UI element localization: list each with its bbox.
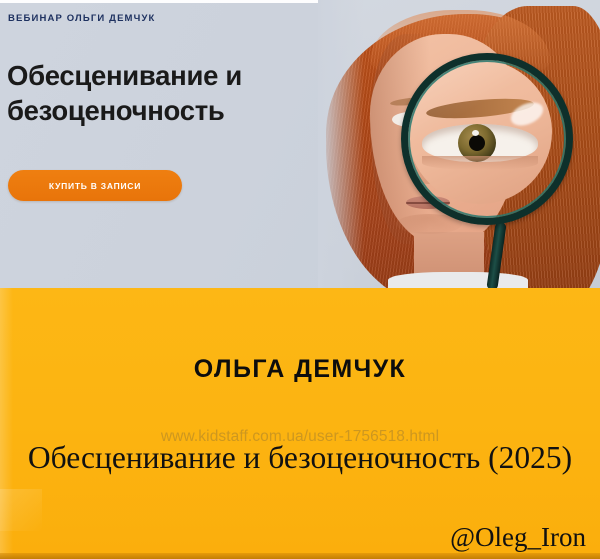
promo-heading-line-2: безоценочность — [7, 93, 337, 128]
panel-corner-fold — [0, 489, 42, 531]
shirt — [388, 272, 528, 288]
seller-signature: @Oleg_Iron — [450, 522, 586, 553]
promo-heading-line-1: Обесценивание и — [7, 58, 337, 93]
magnifier-ring — [401, 53, 573, 225]
promo-banner: ВЕБИНАР ОЛЬГИ ДЕМЧУК Обесценивание и без… — [0, 0, 600, 288]
woman-with-magnifying-glass-photo — [318, 0, 600, 288]
webinar-eyebrow-label: ВЕБИНАР ОЛЬГИ ДЕМЧУК — [8, 13, 155, 24]
promo-heading: Обесценивание и безоценочность — [7, 58, 337, 128]
listing-panel — [0, 288, 600, 559]
author-name: ОЛЬГА ДЕМЧУК — [0, 355, 600, 384]
course-title: Обесценивание и безоценочность (2025) — [0, 440, 600, 476]
promo-listing-image: ВЕБИНАР ОЛЬГИ ДЕМЧУК Обесценивание и без… — [0, 0, 600, 559]
panel-bottom-edge — [0, 553, 600, 559]
buy-recording-button[interactable]: КУПИТЬ В ЗАПИСИ — [8, 170, 182, 201]
photo-left-fade — [318, 0, 364, 288]
